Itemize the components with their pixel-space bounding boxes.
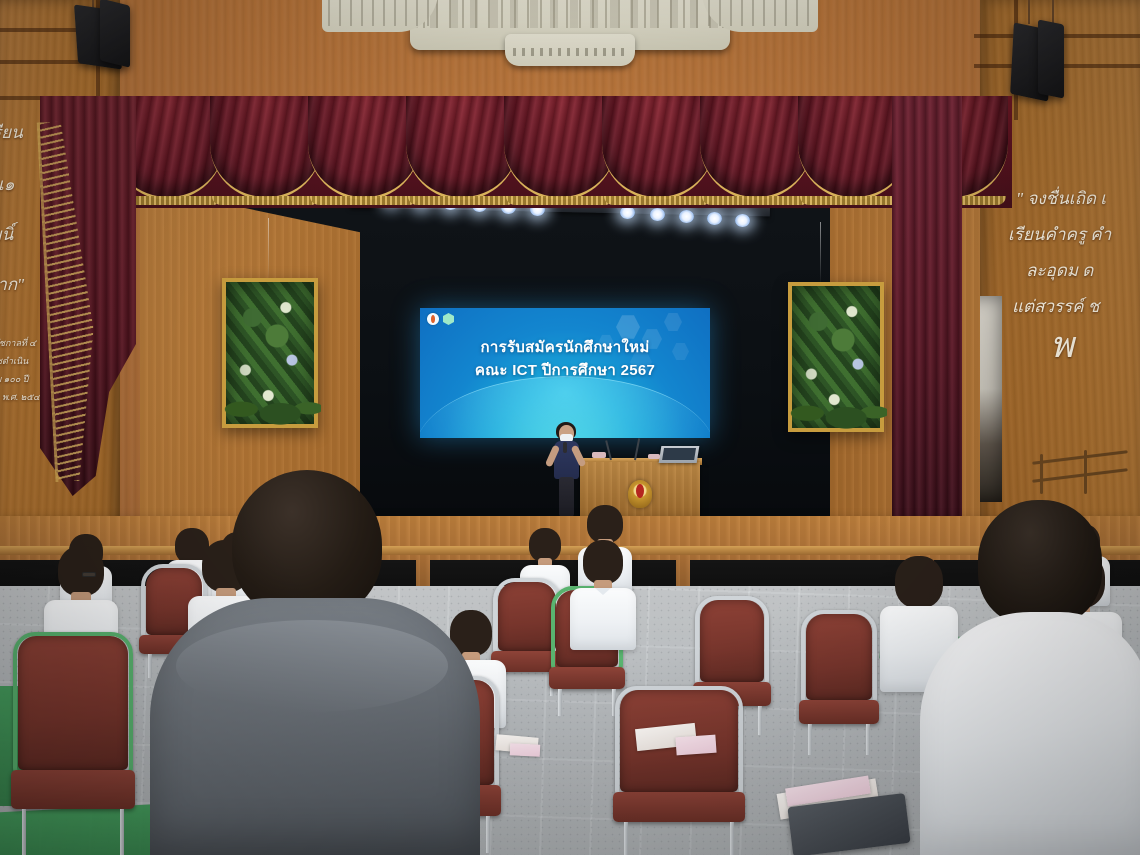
banquet-chair-near-3[interactable]	[620, 690, 738, 855]
left-wall-subtext-2: ราชดำเนิน	[0, 354, 28, 368]
stage-light-8	[650, 208, 665, 221]
hoodie-hood	[176, 620, 448, 712]
stage-light-10	[707, 212, 722, 225]
slide-title-block: การรับสมัครนักศึกษาใหม่ คณะ ICT ปีการศึก…	[420, 337, 710, 382]
desk-item-2	[648, 454, 660, 459]
student-foreground-right	[890, 500, 1140, 855]
shirt-collar	[595, 588, 611, 595]
chair-backrest	[498, 582, 556, 651]
chair-seat	[549, 667, 625, 689]
eyeglasses	[82, 572, 96, 577]
chair-seat	[799, 700, 879, 725]
chair-seat	[613, 792, 745, 822]
handheld-microphone	[563, 442, 567, 453]
student-head	[583, 540, 623, 584]
presenter	[548, 425, 584, 517]
right-wall-large-glyph: พ	[1050, 318, 1074, 374]
projection-screen[interactable]: การรับสมัครนักศึกษาใหม่ คณะ ICT ปีการศึก…	[420, 308, 710, 438]
student-head	[529, 528, 561, 562]
chair-backrest	[806, 614, 872, 700]
slide-logo-group	[427, 313, 454, 325]
presenter-laptop	[659, 446, 700, 463]
left-wall-inscription-line-2: เ๑	[0, 172, 15, 198]
right-wall-inscription-line-2: เรียนคำครู คำ	[1008, 222, 1111, 248]
banquet-chair-far-3[interactable]	[498, 582, 556, 694]
royal-emblem	[628, 480, 652, 508]
right-wall-inscription-line-3: ละอุดม ด	[1026, 258, 1093, 284]
student-shirt	[570, 588, 636, 650]
stage-curtain-valance	[112, 96, 1012, 208]
university-seal-logo	[427, 313, 439, 325]
student-foreground-hoodie	[150, 470, 480, 855]
student-head	[58, 546, 104, 596]
stage-curtain-right	[892, 96, 962, 526]
stage-light-9	[679, 210, 694, 223]
pink-form-2[interactable]	[510, 743, 541, 757]
floral-wall-art-right	[788, 282, 884, 432]
ceiling-speaker-left-sub	[100, 0, 130, 68]
pink-form-1[interactable]	[675, 735, 716, 756]
faculty-ict-logo	[443, 313, 454, 325]
student-shirt	[920, 612, 1140, 855]
right-wall-inscription-line-4: แต่สวรรค์ ช	[1012, 294, 1099, 320]
ceiling-speaker-right-sub	[1038, 19, 1064, 98]
chair-backrest	[700, 600, 764, 682]
relief-wing-left	[322, 0, 438, 32]
desk-item-1	[592, 452, 606, 458]
slide-title-line-1: การรับสมัครนักศึกษาใหม่	[420, 337, 710, 360]
left-wall-inscription-line-4: มาก"	[0, 272, 24, 298]
student-head	[978, 500, 1102, 626]
left-wall-inscription-line-1: รียน	[0, 120, 23, 146]
right-wall-inscription-line-1: " จงชื่นเถิด เ	[1016, 186, 1106, 212]
student-head	[587, 505, 623, 543]
floral-wall-art-left	[222, 278, 318, 428]
left-wall-subtext-3: ชัย ๑๐๐ ปี	[0, 372, 28, 386]
relief-wing-right	[702, 0, 818, 32]
carved-relief-panel	[410, 0, 730, 50]
stage-light-11	[735, 214, 750, 227]
student-row-center-3	[570, 540, 636, 652]
chair-seat	[11, 770, 135, 809]
banquet-chair-near-1[interactable]	[18, 636, 128, 852]
relief-plaque	[505, 34, 635, 66]
auditorium-scene: รียน เ๑ ขนิ์ มาก" รัชกาลที่ ๔ ราชดำเนิน …	[0, 0, 1140, 855]
left-wall-subtext-1: รัชกาลที่ ๔	[0, 336, 36, 350]
slide-title-line-2: คณะ ICT ปีการศึกษา 2567	[420, 360, 710, 383]
left-wall-inscription-line-3: ขนิ์	[0, 222, 13, 248]
stair-railing	[1032, 452, 1128, 496]
chair-backrest	[18, 636, 128, 770]
presenter-legs	[559, 477, 574, 517]
banquet-chair-far-6[interactable]	[806, 614, 872, 752]
